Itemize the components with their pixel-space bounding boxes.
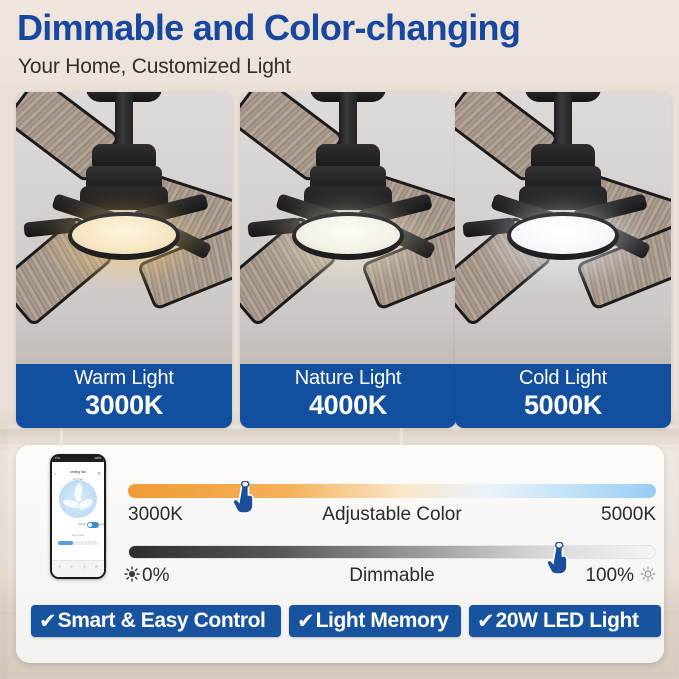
phone-tab-icon-4[interactable]: ⚙ — [90, 564, 103, 569]
phone-app-title: ceiling fan — [52, 470, 104, 474]
light-mode-panels: Warm Light 3000K — [0, 92, 679, 428]
phone-toggle-left-label: Winter — [79, 523, 87, 526]
bg-left-post — [0, 425, 8, 679]
led-light-fixture — [68, 212, 180, 260]
badge-light-memory: ✔ Light Memory — [289, 605, 461, 637]
ceiling-fan-nature-icon — [240, 92, 456, 364]
badge-label: Light Memory — [316, 609, 458, 633]
adjustable-color-max-label: 5000K — [601, 504, 656, 526]
photo-floor — [16, 306, 232, 364]
phone-status-battery: 100% — [94, 457, 101, 460]
dimmable-slider-track[interactable] — [128, 545, 656, 559]
panel-cold-light: Cold Light 5000K — [455, 92, 671, 428]
panel-caption-temperature: 4000K — [240, 390, 456, 421]
panel-nature-light: Nature Light 4000K — [240, 92, 456, 428]
badge-smart-easy-control: ✔ Smart & Easy Control — [31, 605, 281, 637]
adjustable-color-slider-track[interactable] — [128, 484, 656, 498]
panel-warm-light: Warm Light 3000K — [16, 92, 232, 428]
lamp-lens — [511, 216, 615, 254]
panel-caption-temperature: 5000K — [455, 390, 671, 421]
fan-dial-icon[interactable] — [59, 480, 97, 518]
dial-hub — [76, 497, 81, 502]
phone-screen: 9:41 100% ‹ ✎ ceiling fan Normal Winter — [52, 456, 104, 577]
lamp-lens — [72, 216, 176, 254]
dimmable-label: Dimmable — [128, 565, 656, 587]
phone-toggle-right-label: Summer — [96, 523, 104, 526]
panel-caption-temperature: 3000K — [16, 390, 232, 421]
marketing-image: Dimmable and Color-changing Your Home, C… — [0, 0, 679, 679]
header: Dimmable and Color-changing Your Home, C… — [0, 0, 679, 84]
lamp-lens — [296, 216, 400, 254]
ceiling-fan-cold-icon — [455, 92, 671, 364]
phone-nav-bar: ‹ ✎ ceiling fan Normal — [52, 463, 104, 476]
phone-status-bar: 9:41 100% — [52, 456, 104, 462]
photo-floor — [240, 306, 456, 364]
badge-label: 20W LED Light — [496, 609, 648, 633]
ceiling-fan-warm-icon — [16, 92, 232, 364]
panel-caption-name: Cold Light — [455, 367, 671, 390]
control-card: 9:41 100% ‹ ✎ ceiling fan Normal Winter — [16, 445, 664, 663]
fan-downrod — [554, 92, 572, 152]
led-light-fixture — [292, 212, 404, 260]
phone-speed-slider[interactable] — [58, 541, 98, 545]
check-icon: ✔ — [39, 611, 57, 632]
phone-tab-icon-2[interactable]: ✳ — [65, 564, 78, 569]
panel-caption-name: Nature Light — [240, 367, 456, 390]
badge-20w-led-light: ✔ 20W LED Light — [469, 605, 661, 637]
fan-downrod — [115, 92, 133, 152]
badge-label: Smart & Easy Control — [58, 609, 275, 633]
feature-badges: ✔ Smart & Easy Control ✔ Light Memory ✔ … — [16, 605, 664, 645]
panel-caption: Cold Light 5000K — [455, 364, 671, 428]
check-icon: ✔ — [297, 611, 315, 632]
panel-caption-name: Warm Light — [16, 367, 232, 390]
page-title: Dimmable and Color-changing — [17, 7, 520, 49]
phone-speed-fill — [58, 541, 73, 545]
led-light-fixture — [507, 212, 619, 260]
smartphone-app-mockup: 9:41 100% ‹ ✎ ceiling fan Normal Winter — [50, 454, 106, 579]
phone-tab-bar: ⊙ ✳ ◎ ⚙ — [52, 560, 104, 577]
dimmable-max-label: 100% — [585, 565, 634, 587]
check-icon: ✔ — [477, 611, 495, 632]
fan-downrod — [339, 92, 357, 152]
page-subtitle: Your Home, Customized Light — [18, 55, 291, 79]
phone-status-time: 9:41 — [55, 457, 60, 460]
phone-section-label: Fan speed — [52, 534, 104, 537]
adjustable-color-label: Adjustable Color — [128, 504, 656, 526]
photo-floor — [455, 306, 671, 364]
panel-caption: Warm Light 3000K — [16, 364, 232, 428]
sun-outline-icon — [640, 566, 656, 582]
panel-caption: Nature Light 4000K — [240, 364, 456, 428]
